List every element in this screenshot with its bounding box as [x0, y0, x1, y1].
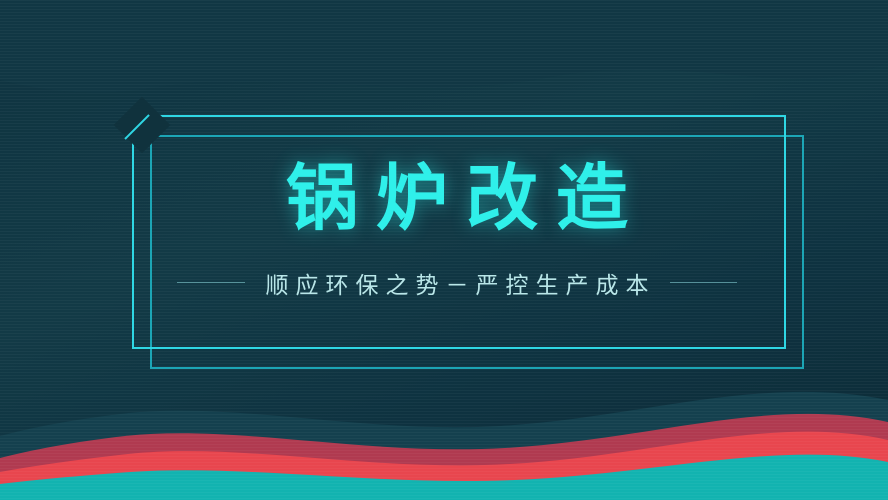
page-subtitle: 顺应环保之势－严控生产成本 — [259, 266, 656, 300]
page-title: 锅炉改造 — [268, 160, 646, 239]
poster-canvas: 锅炉改造 顺应环保之势－严控生产成本 — [0, 0, 888, 500]
title-block: 锅炉改造 顺应环保之势－严控生产成本 — [132, 115, 782, 345]
divider-left — [177, 282, 245, 283]
divider-right — [670, 282, 738, 283]
subtitle-row: 顺应环保之势－严控生产成本 — [177, 266, 737, 300]
